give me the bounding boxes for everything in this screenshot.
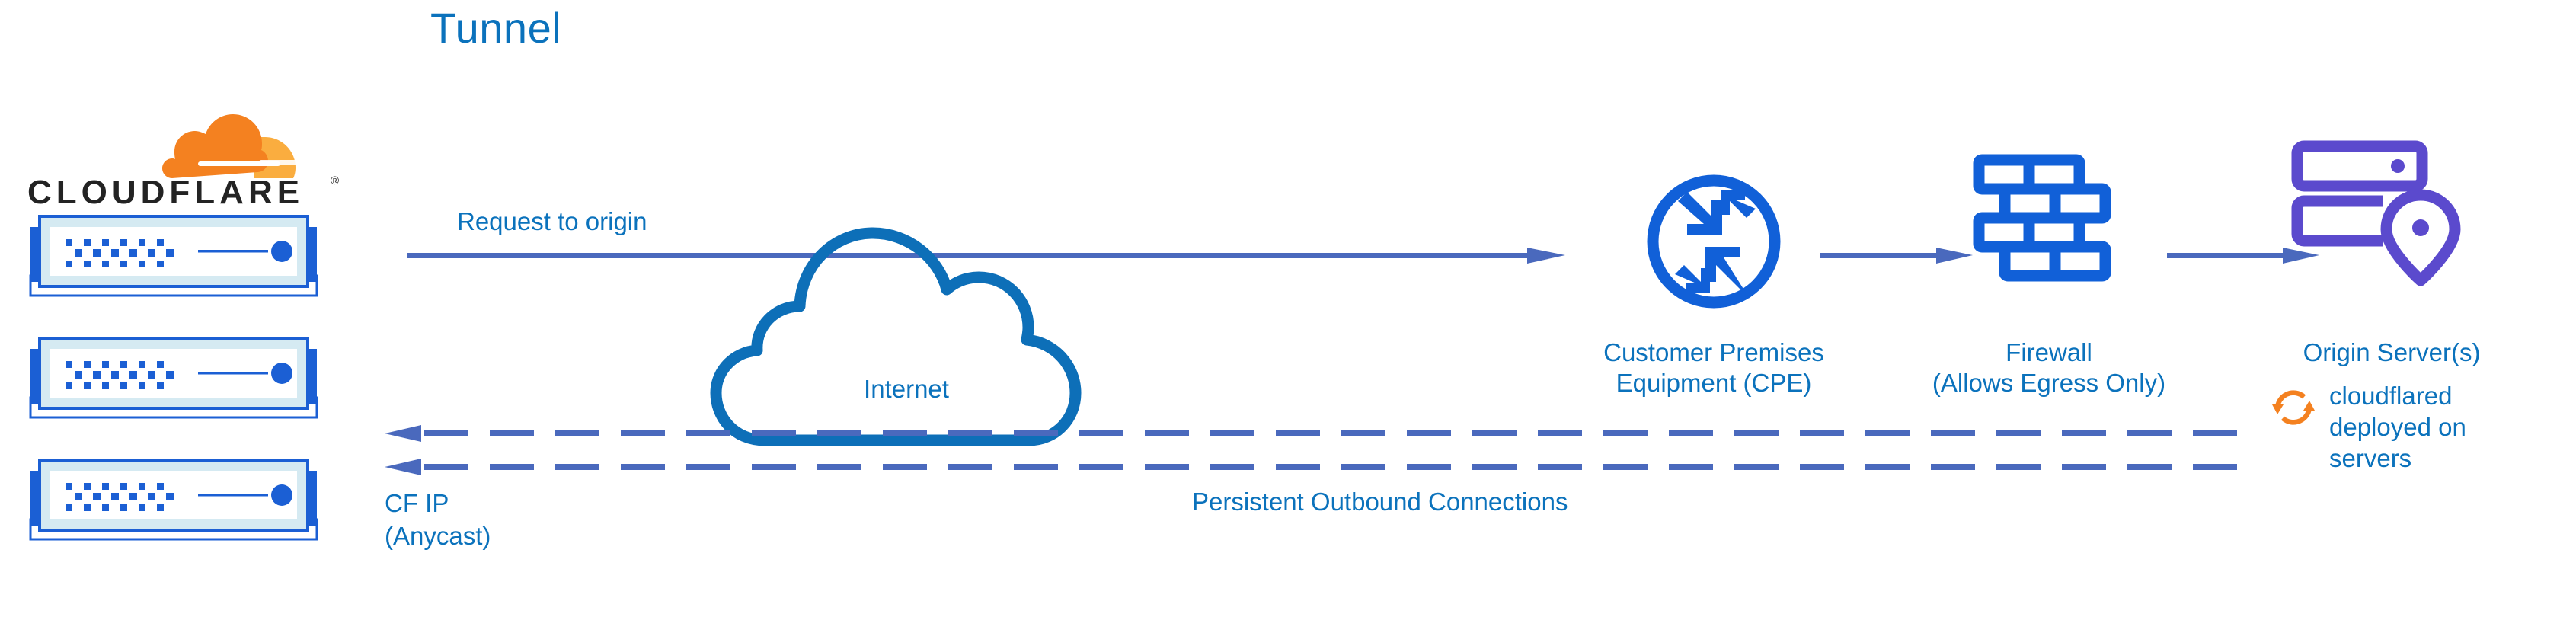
cloudflared-text: cloudflared deployed on servers: [2329, 381, 2466, 475]
cf-ip-anycast-label: CF IP (Anycast): [385, 488, 491, 553]
svg-text:CLOUDFLARE: CLOUDFLARE: [27, 174, 304, 209]
cloudflare-edge-server-2: [14, 335, 334, 424]
firewall-brick-wall-icon: [1973, 152, 2125, 305]
cloudflare-edge-server-3: [14, 457, 334, 545]
cpe-label: Customer Premises Equipment (CPE): [1516, 337, 1912, 399]
persistent-outbound-connections-label: Persistent Outbound Connections: [1192, 488, 1568, 516]
origin-server-label: Origin Server(s): [2228, 337, 2555, 368]
persistent-connection-line-upper: [385, 424, 2251, 443]
firewall-label: Firewall (Allows Egress Only): [1889, 337, 2209, 399]
cpe-to-firewall-arrow: [1820, 245, 1973, 265]
cloudflare-edge-server-1: [14, 213, 334, 302]
cloudflared-note: cloudflared deployed on servers: [2270, 381, 2574, 475]
cloudflare-cloud-logo: CLOUDFLARE ®: [23, 107, 343, 209]
origin-server-rack-pin-icon: [2291, 139, 2474, 291]
sync-circular-arrows-icon: [2270, 384, 2317, 431]
request-to-origin-label: Request to origin: [457, 207, 647, 236]
persistent-connection-line-lower: [385, 457, 2251, 477]
tunnel-diagram-canvas: Tunnel CLOUDFLARE ®: [0, 0, 2576, 617]
internet-label: Internet: [708, 375, 1104, 404]
svg-text:®: ®: [331, 174, 339, 187]
cpe-converging-arrows-icon: [1641, 169, 1786, 314]
page-title: Tunnel: [430, 3, 561, 53]
